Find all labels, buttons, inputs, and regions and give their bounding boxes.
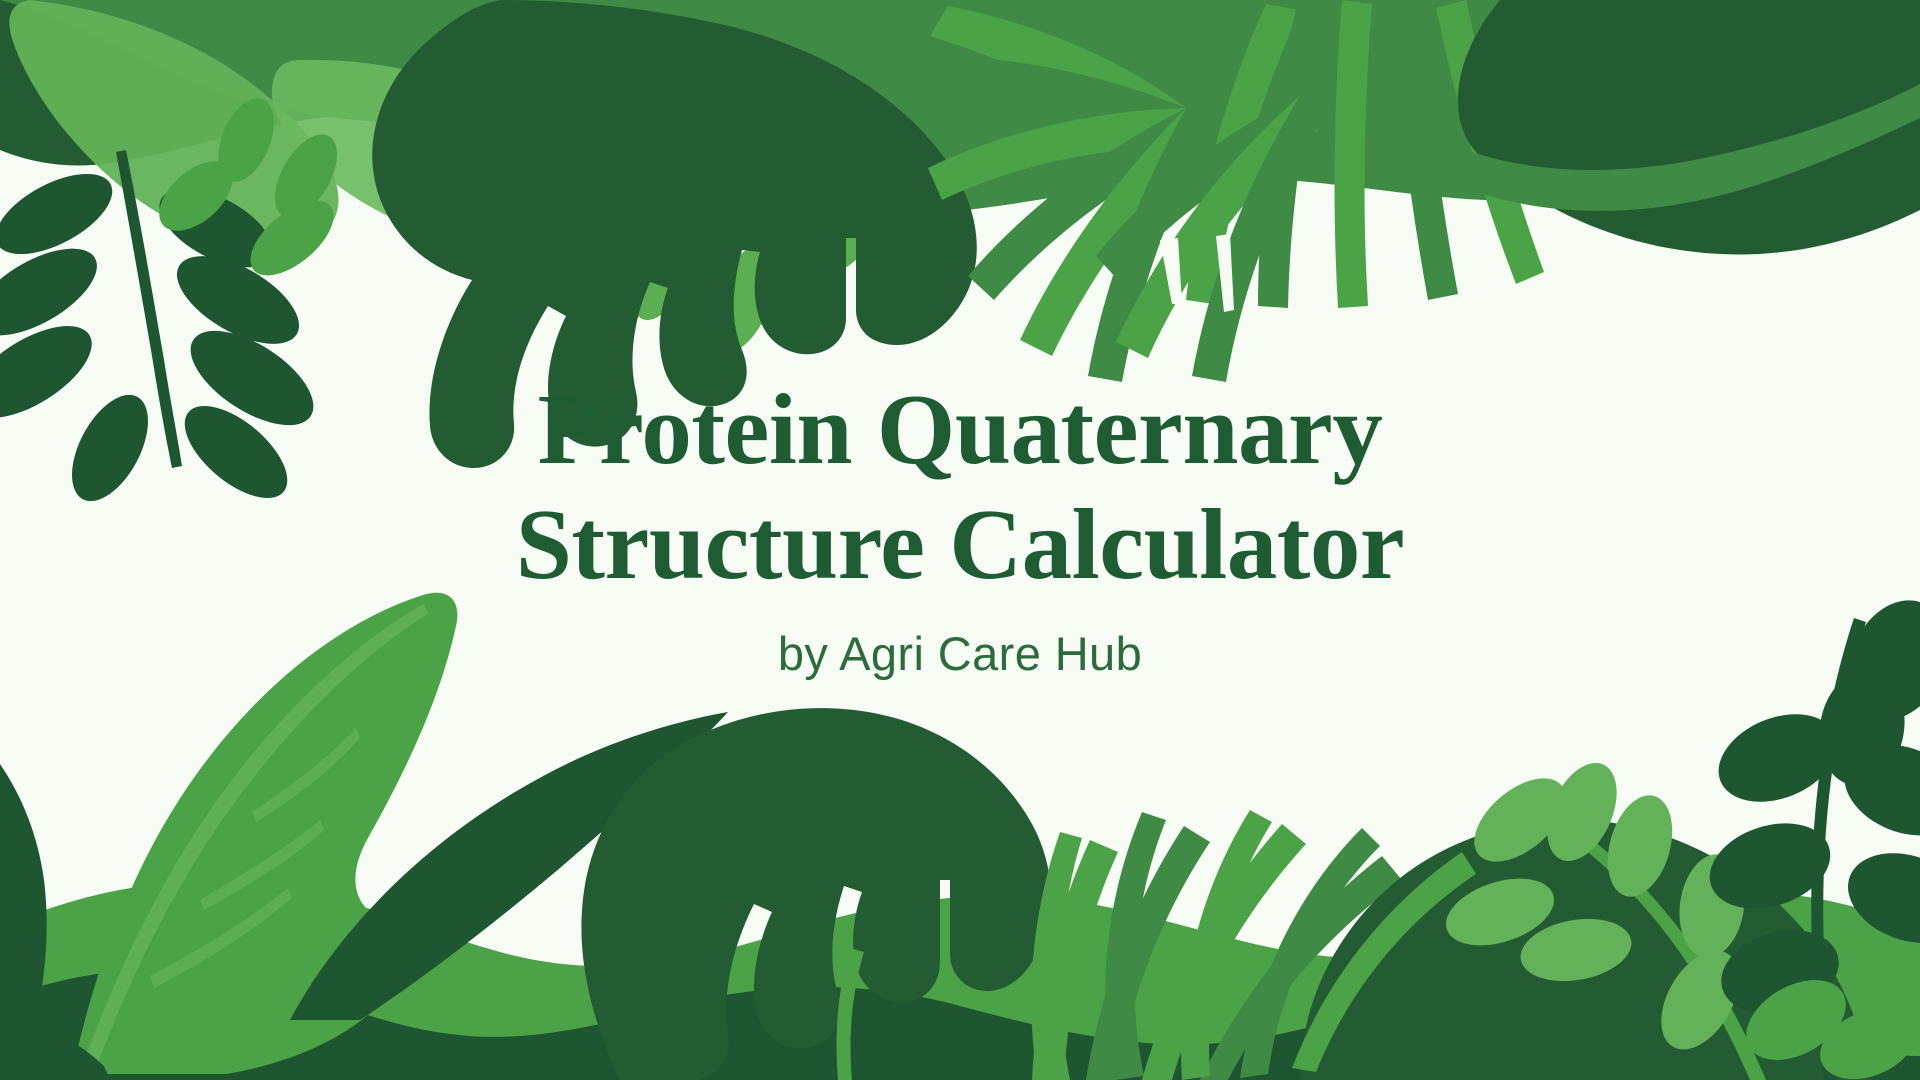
top-dark-wave-shape [0,0,1920,179]
top-left-light-blob-shape [9,0,338,249]
palm-blade-shape [1258,2,1330,308]
fern-leaflet-shape [1516,911,1637,990]
fern-leaflet-shape [543,176,617,289]
fern-leaflet-shape [1732,964,1860,1077]
palm-blade-shape [930,6,1186,150]
palm-blade-shape [1086,826,1210,1080]
fern-leaflet-shape [1597,788,1683,905]
fern-leaflet-shape [1831,728,1920,852]
bottom-light-mound-shape [0,881,1920,1080]
top-right-notch-shape [1160,238,1182,304]
title-block: Protein Quaternary Structure Calculator … [0,372,1920,682]
subtitle-byline: by Agri Care Hub [0,626,1920,682]
palm-blade-shape [1032,840,1118,1080]
fern-leaflet-shape [1673,850,1751,962]
bottom-right-mid-fern-group [1437,752,1766,1080]
leaf-vein-shape [150,888,292,988]
fern-leaflet-shape [163,238,313,361]
bottom-monstera-leaf-shape [581,708,1050,1080]
fern-leaflet-shape [147,172,285,283]
fern-leaflet-shape [1459,762,1580,877]
top-right-lower-palm-group [1096,96,1322,382]
fern-leaflet-shape [1811,664,1914,793]
palm-blade-shape [1020,108,1202,356]
fern-leaflet-shape [0,157,125,270]
palm-blade-shape [928,56,1186,158]
palm-blade-shape [1335,0,1372,308]
fern-leaflet-shape [1699,809,1842,923]
palm-blade-shape [1116,96,1318,358]
fern-stem-shape [1811,618,1866,1080]
fern-leaflet-shape [696,131,820,253]
fern-leaflet-shape [775,183,897,298]
top-right-palm-frond-group [1186,0,1544,308]
fern-leaflet-shape [1437,866,1562,958]
top-center-fern-stem-shape [554,176,806,302]
palm-blade-shape [1186,4,1300,304]
page-title-line-2: Structure Calculator [0,487,1920,602]
fern-leaflet-shape [1533,752,1630,871]
palm-blade-shape [1200,856,1402,1080]
palm-blade-shape [968,108,1196,300]
fern-leaflet-shape [695,238,789,363]
top-right-light-wave-shape [1460,84,1920,211]
top-right-notch-shape [1216,234,1234,312]
palm-blade-shape [1105,812,1166,1080]
fern-leaflet-shape [147,148,246,244]
palm-blade-shape [1088,108,1208,382]
page-title-line-1: Protein Quaternary [0,372,1920,487]
bottom-right-palm-group [1031,810,1476,1080]
fern-leaflet-shape [1835,837,1920,958]
bottom-left-dark-pointed-leaf-shape [290,712,728,1020]
fern-leaflet-shape [618,208,703,327]
palm-blade-shape [1096,96,1316,280]
palm-blade-shape [1436,0,1544,284]
bottom-far-left-wedge-shape [0,1010,110,1080]
fern-leaflet-shape [1645,937,1754,1063]
palm-blade-shape [1192,96,1322,382]
bottom-left-dark-blade-shape [0,764,47,1080]
top-left-accent-blob-shape [272,60,612,253]
bottom-center-palm-frond-group [1032,824,1402,1080]
fern-leaflet-shape [0,231,110,353]
fern-leaflet-shape [262,124,350,228]
monstera-stem-shape [837,948,865,1080]
top-right-dark-mass-shape [1458,0,1920,254]
leaf-vein-shape [252,728,360,822]
palm-blade-shape [928,108,1186,200]
palm-blade-shape [1292,852,1476,1072]
top-medium-wave-shape [0,0,1920,215]
fern-leaflet-shape [1711,917,1848,1027]
palm-blade-shape [1142,824,1306,1080]
fern-leaflet-shape [238,187,347,290]
fern-leaflet-shape [614,102,731,223]
fern-leaflet-shape [548,82,653,198]
bottom-left-dark-blade-shape [1180,906,1336,1080]
leaf-vein-shape [200,820,324,910]
palm-blade-shape [1031,832,1082,1080]
slide-canvas: Protein Quaternary Structure Calculator … [0,0,1920,1080]
fern-leaflet-shape [1706,698,1851,819]
bottom-right-dark-mound-shape [1300,820,1870,1080]
palm-blade-shape [1390,2,1458,300]
fern-leaflet-shape [207,90,284,190]
top-palm-frond-group [928,6,1208,382]
bottom-dark-mound-shape [0,970,1920,1080]
fern-stem-shape [1512,790,1766,1080]
palm-blade-shape [1181,810,1272,1080]
palm-blade-shape [1240,828,1380,1078]
fern-leaflet-shape [1810,996,1920,1080]
